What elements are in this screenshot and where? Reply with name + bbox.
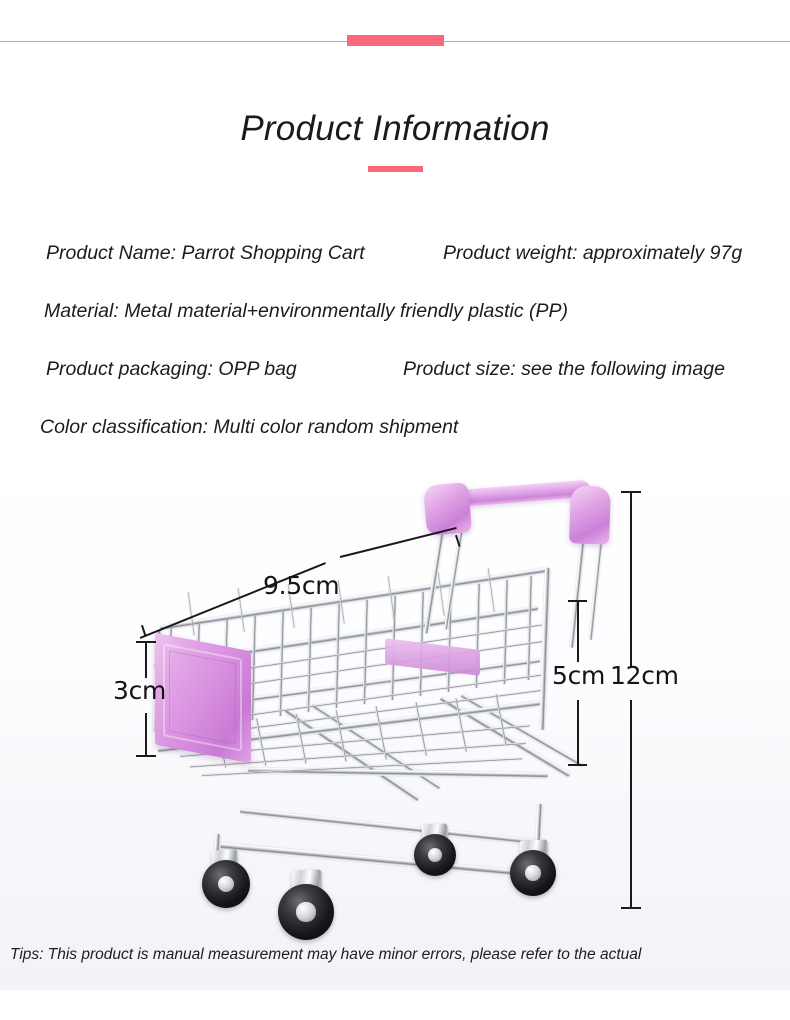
flap-emboss-inner [169,650,236,744]
wheel-front-left [202,860,250,908]
wheel-hub [428,848,442,862]
title-underline-bar [368,166,423,172]
product-information-page: Product Information Product Name: Parrot… [0,0,790,1020]
wheel-rear-left [414,834,456,876]
chassis-front-rail [218,842,540,878]
basket-right-upright [539,568,551,730]
handle-cap-left [423,482,472,536]
info-product-name: Product Name: Parrot Shopping Cart [46,240,365,266]
dim-label-flap-height: 3cm [113,676,166,705]
dim-line-flap-lower [145,713,147,756]
dim-line-basket-upper [577,600,579,662]
handle-cap-right [569,485,611,544]
dim-label-total-height: 12cm [610,661,679,690]
page-title: Product Information [0,106,790,152]
chassis-rear-rail [240,808,540,846]
dim-line-total-lower [630,700,632,908]
dim-label-width: 9.5cm [263,571,339,600]
footer-band [0,1000,790,1020]
wheel-hub [525,865,541,881]
info-color-classification: Color classification: Multi color random… [40,414,458,440]
dim-line-basket-lower [577,700,579,765]
dim-line-flap-upper [145,641,147,678]
dim-cap-basket-bottom [568,764,587,766]
product-photo [0,452,790,990]
dim-cap-total-bottom [621,907,641,909]
info-row: Product Name: Parrot Shopping Cart Produ… [0,240,790,298]
info-product-size: Product size: see the following image [403,356,725,382]
info-material: Material: Metal material+environmentally… [44,298,568,324]
basket-back-wire [437,572,445,616]
wheel-hub [218,876,234,892]
header-accent-tab [347,35,444,46]
basket-floor-wire [415,702,427,755]
basket-floor-wire [335,710,347,761]
info-row: Product packaging: OPP bag Product size:… [0,356,790,414]
dim-line-total-upper [630,491,632,668]
tips-note: Tips: This product is manual measurement… [10,946,641,964]
info-row: Material: Metal material+environmentally… [0,298,790,356]
info-packaging: Product packaging: OPP bag [46,356,297,382]
wheel-front-center [278,884,334,940]
wheel-hub [296,902,315,921]
info-product-weight: Product weight: approximately 97g [443,240,742,266]
wheel-rear-right [510,850,556,896]
basket-floor-wire [495,694,507,745]
dim-label-basket-height: 5cm [552,661,605,690]
front-flap-panel [155,633,251,764]
handle-post-right-inner [589,536,604,640]
product-info-block: Product Name: Parrot Shopping Cart Produ… [0,240,790,472]
dim-cap-flap-bottom [136,755,156,757]
basket-floor-wire [455,698,467,751]
basket-wire [503,580,509,684]
